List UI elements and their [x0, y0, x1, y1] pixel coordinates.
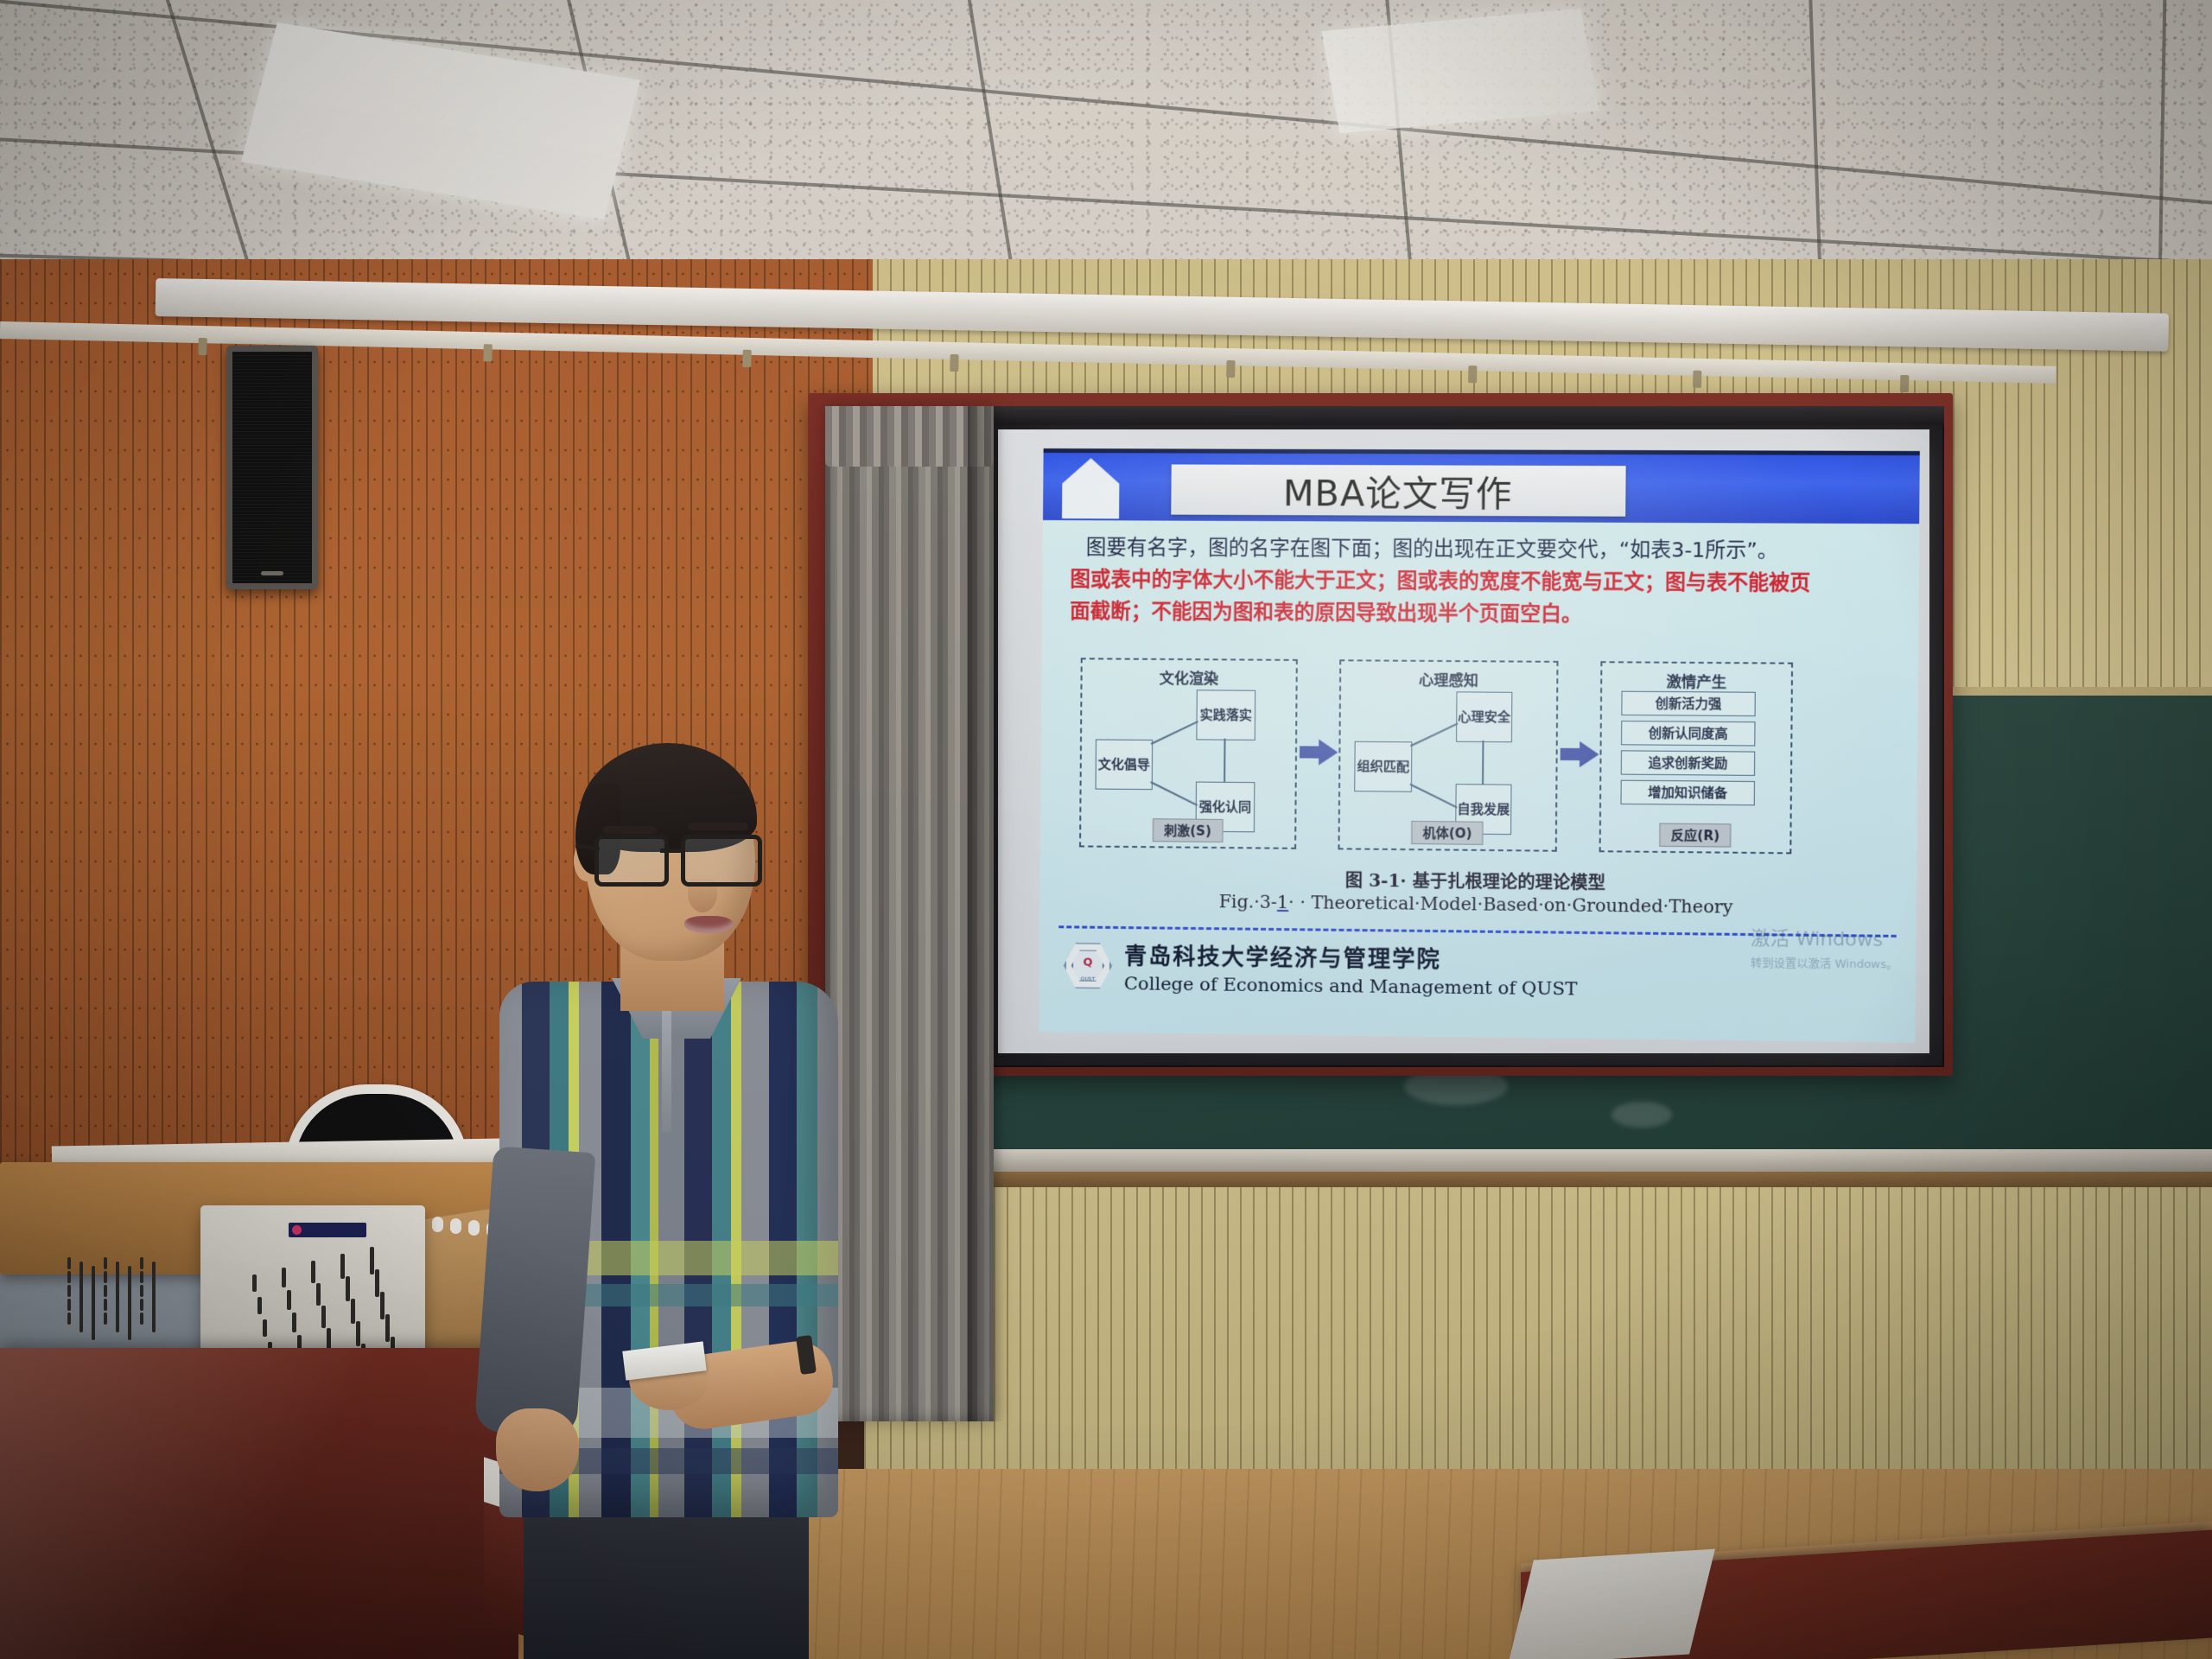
- vent-slot: [152, 1317, 156, 1332]
- diagram-connector: [1410, 784, 1458, 809]
- vent-slot: [67, 1285, 71, 1297]
- vent-slot: [67, 1257, 71, 1269]
- diagram-node-item: 创新认同度高: [1621, 721, 1755, 746]
- presenter-trousers: [524, 1495, 809, 1659]
- vent-slot: [104, 1313, 107, 1325]
- vent-slot: [252, 1274, 257, 1292]
- diagram-connector: [1482, 741, 1484, 784]
- vent-slot: [321, 1306, 326, 1328]
- vent-slot: [287, 1290, 291, 1310]
- curtain-hook: [1900, 375, 1909, 392]
- watermark-line-1: 激活 Windows: [1751, 923, 1898, 952]
- vent-slot: [316, 1283, 321, 1306]
- wall-speaker: [226, 346, 318, 589]
- diagram-connector: [1150, 781, 1198, 805]
- curtain-hook: [950, 354, 958, 372]
- windows-activation-watermark: 激活 Windows 转到设置以激活 Windows。: [1751, 923, 1898, 972]
- vent-slot: [385, 1314, 390, 1342]
- vent-slot: [67, 1299, 71, 1311]
- figure-caption-en-underline: 1: [1277, 892, 1288, 912]
- presenter-eyebrow: [688, 823, 748, 830]
- diagram-group-tag: 反应(R): [1659, 823, 1731, 848]
- vent-slot: [92, 1321, 95, 1340]
- diagram-connector: [1151, 721, 1198, 745]
- vent-slot: [116, 1317, 119, 1332]
- presenter-mouth: [684, 916, 733, 933]
- vent-slot: [375, 1269, 379, 1297]
- diagram-node-item: 创新活力强: [1621, 691, 1755, 716]
- vent-slot: [104, 1299, 107, 1311]
- curtain-hook: [483, 344, 492, 361]
- diagram-group-title: 激情产生: [1602, 669, 1791, 692]
- vent-slot: [257, 1297, 262, 1314]
- vent-slot: [311, 1261, 315, 1283]
- curtain-hook: [1226, 360, 1235, 378]
- projected-slide: MBA论文写作 图要有名字，图的名字在图下面；图的出现在正文要交代，“如表3-1…: [1039, 448, 1919, 1043]
- theoretical-model-diagram: 文化渲染 文化倡导 实践落实 强化认同 刺激(S) 心理感知 组织匹配 心理安全…: [1079, 658, 1869, 860]
- curtain-hook: [198, 338, 207, 355]
- vent-slot: [128, 1321, 131, 1340]
- diagram-arrow-slot: [1557, 661, 1601, 849]
- diagram-group-tag: 机体(O): [1411, 821, 1484, 845]
- diagram-connector: [1224, 739, 1225, 782]
- ceiling: [0, 0, 2212, 294]
- curtain-hook: [742, 350, 751, 367]
- diagram-node-root: 组织匹配: [1354, 741, 1412, 792]
- chalkboard-ledge: [955, 1149, 2212, 1172]
- desk-reflection: [0, 1348, 518, 1659]
- presenter-left-arm: [474, 1146, 596, 1437]
- vent-slot: [104, 1271, 107, 1283]
- figure-caption-en-rest: · · Theoretical·Model·Based·on·Grounded·…: [1288, 892, 1733, 918]
- presenter-placket: [662, 1002, 671, 1132]
- vent-slot: [104, 1257, 107, 1269]
- slide-header-bar: MBA论文写作: [1043, 448, 1920, 524]
- slide-title: MBA论文写作: [1283, 464, 1513, 517]
- footer-institution-en: College of Economics and Management of Q…: [1124, 973, 1578, 999]
- speaker-grill: [232, 352, 312, 583]
- podium-hole: [432, 1217, 443, 1232]
- vent-slot: [340, 1254, 345, 1279]
- diagram-group-title: 文化渲染: [1082, 665, 1295, 689]
- slide-footer: QQUST 青岛科技大学经济与管理学院 College of Economics…: [1064, 938, 1578, 999]
- diagram-group-title: 心理感知: [1341, 667, 1556, 690]
- slide-body-line: 图或表中的字体大小不能大于正文；图或表的宽度不能宽与正文；图与表不能被页: [1070, 563, 1892, 600]
- figure-caption-en-prefix: Fig.·3-: [1219, 891, 1278, 912]
- diagram-node-item: 增加知识储备: [1621, 780, 1755, 806]
- diagram-group-organism: 心理感知 组织匹配 心理安全 自我发展 机体(O): [1338, 659, 1559, 852]
- presenter-eyebrow: [603, 826, 657, 834]
- vent-slot: [104, 1285, 107, 1297]
- screen-roller: [985, 406, 1944, 425]
- qust-logo-icon: QQUST: [1064, 941, 1112, 990]
- slide-body: 图要有名字，图的名字在图下面；图的出现在正文要交代，“如表3-1所示”。 图或表…: [1070, 531, 1892, 632]
- right-arrow-icon: [1300, 739, 1338, 765]
- diagram-group-stimulus: 文化渲染 文化倡导 实践落实 强化认同 刺激(S): [1079, 658, 1298, 849]
- speaker-badge: [261, 571, 283, 575]
- slide-title-box: MBA论文写作: [1171, 464, 1625, 516]
- vent-slot: [67, 1313, 71, 1325]
- slide-body-line: 面截断；不能因为图和表的原因导致出现半个页面空白。: [1070, 595, 1892, 632]
- wall-vent: [60, 1257, 173, 1335]
- vent-slot: [370, 1247, 374, 1274]
- pentagon-logo-icon: [1062, 458, 1120, 518]
- vent-slot: [140, 1313, 143, 1325]
- slide-body-line: 图要有名字，图的名字在图下面；图的出现在正文要交代，“如表3-1所示”。: [1086, 531, 1893, 568]
- podium-hole: [450, 1218, 461, 1234]
- watermark-line-2: 转到设置以激活 Windows。: [1751, 953, 1898, 971]
- right-desk-paper: [1508, 1549, 1715, 1659]
- vent-slot: [140, 1285, 143, 1297]
- diagram-node-branch: 心理安全: [1456, 691, 1512, 742]
- vent-slot: [380, 1292, 385, 1319]
- vent-slot: [140, 1257, 143, 1269]
- curtain-hook: [1468, 365, 1477, 383]
- diagram-arrow-slot: [1296, 659, 1339, 846]
- diagram-node-item: 追求创新奖励: [1621, 750, 1755, 776]
- podium-hole: [468, 1220, 480, 1236]
- presenter-left-hand: [496, 1408, 579, 1491]
- vent-slot: [140, 1271, 143, 1283]
- curtain-hook: [1693, 371, 1701, 388]
- curtain-shadow: [968, 406, 1004, 1421]
- vent-slot: [140, 1299, 143, 1311]
- footer-institution-cn: 青岛科技大学经济与管理学院: [1124, 938, 1578, 976]
- chalkboard-ledge-wood: [955, 1172, 2212, 1187]
- cabinet-brand-label: [289, 1223, 366, 1237]
- vent-slot: [282, 1268, 286, 1287]
- vent-slot: [67, 1271, 71, 1283]
- vent-slot: [346, 1276, 350, 1301]
- presenter: [484, 743, 847, 1659]
- vent-slot: [79, 1317, 83, 1332]
- right-arrow-icon: [1560, 741, 1599, 768]
- glasses-icon: [594, 835, 759, 881]
- vent-slot: [356, 1321, 360, 1346]
- classroom-photo: MBA论文写作 图要有名字，图的名字在图下面；图的出现在正文要交代，“如表3-1…: [0, 0, 2212, 1659]
- chalk-smudge: [1611, 1102, 1672, 1128]
- diagram-node-branch: 实践落实: [1196, 690, 1255, 741]
- diagram-connector: [1410, 722, 1459, 747]
- diagram-group-tag: 刺激(S): [1153, 818, 1223, 842]
- vent-slot: [263, 1319, 267, 1337]
- vent-slot: [351, 1299, 355, 1324]
- diagram-node-root: 文化倡导: [1096, 739, 1154, 790]
- diagram-group-response: 激情产生 创新活力强 创新认同度高 追求创新奖励 增加知识储备 反应(R): [1599, 661, 1793, 854]
- vent-slot: [292, 1313, 296, 1332]
